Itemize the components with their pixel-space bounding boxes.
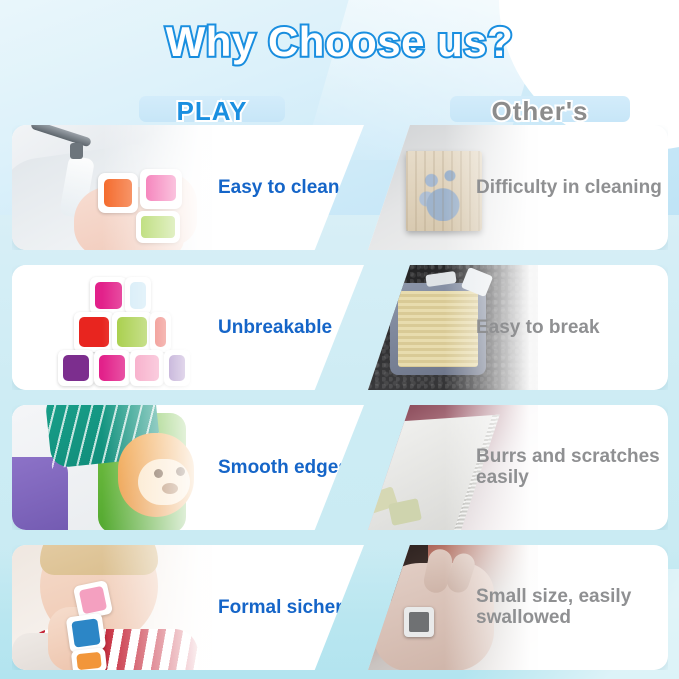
play-card: Smooth edges — [12, 405, 364, 530]
other-card: Easy to break — [368, 265, 668, 390]
other-card: Difficulty in cleaning — [368, 125, 668, 250]
play-card: Formal sicher — [12, 545, 364, 670]
play-label: Unbreakable — [218, 317, 364, 339]
play-photo — [12, 265, 212, 390]
tab-play: PLAY — [139, 96, 285, 122]
play-label: Formal sicher — [218, 597, 364, 619]
infographic-root: Why Choose us? PLAY Other's Easy to clea… — [0, 0, 679, 679]
other-card: Small size, easily swallowed — [368, 545, 668, 670]
comparison-row: Formal sicher Small size, easily swallow… — [0, 545, 679, 670]
play-label: Smooth edges — [218, 457, 364, 479]
play-photo — [12, 545, 212, 670]
play-photo — [12, 405, 212, 530]
other-label: Easy to break — [476, 317, 666, 339]
comparison-row: Unbreakable Easy to break — [0, 265, 679, 390]
play-card: Unbreakable — [12, 265, 364, 390]
column-headers: PLAY Other's — [0, 86, 679, 122]
other-label: Small size, easily swallowed — [476, 586, 666, 630]
tab-others-label: Other's — [450, 96, 630, 127]
other-label: Burrs and scratches easily — [476, 446, 666, 490]
play-label: Easy to clean — [218, 177, 364, 199]
tab-play-label: PLAY — [139, 96, 285, 127]
other-card: Burrs and scratches easily — [368, 405, 668, 530]
comparison-row: Easy to clean Difficulty in cleaning — [0, 125, 679, 250]
play-photo — [12, 125, 212, 250]
page-title: Why Choose us? — [0, 18, 679, 66]
play-card: Easy to clean — [12, 125, 364, 250]
tab-others: Other's — [450, 96, 630, 122]
other-label: Difficulty in cleaning — [476, 177, 666, 199]
comparison-row: Smooth edges Burrs and scratches easily — [0, 405, 679, 530]
